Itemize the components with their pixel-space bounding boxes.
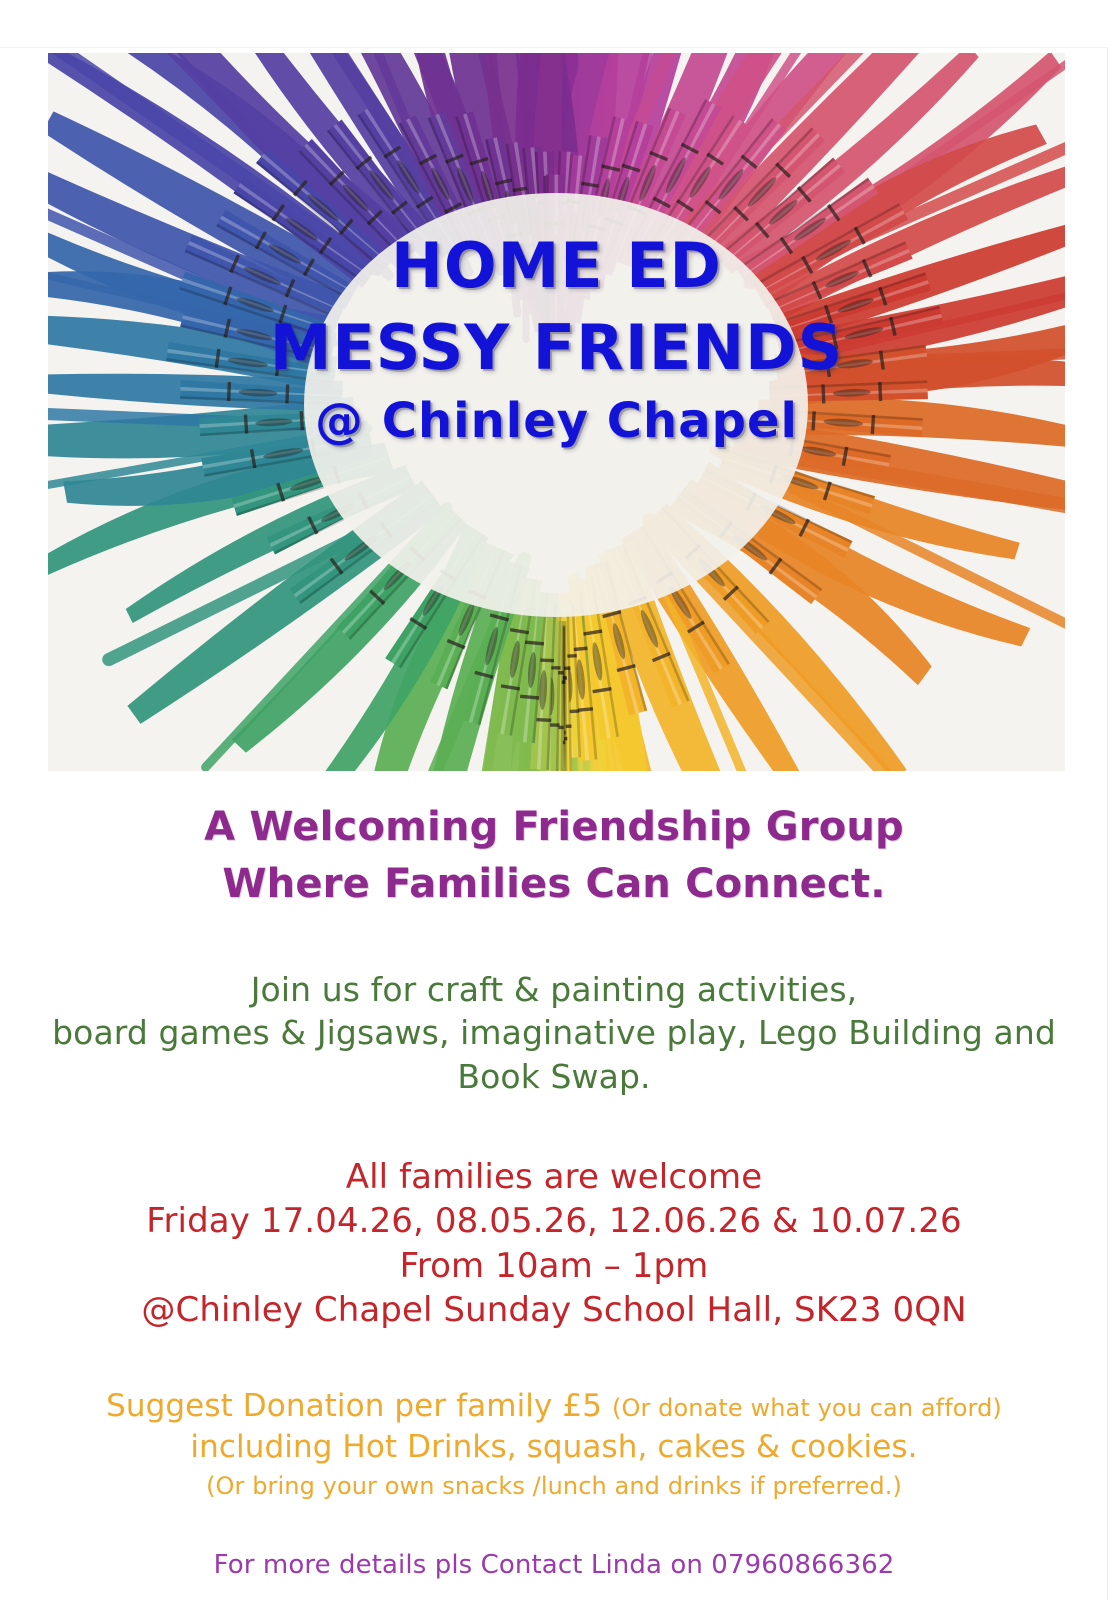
melted-crayon-heart-graphic bbox=[48, 53, 1065, 771]
donation-line-3: (Or bring your own snacks /lunch and dri… bbox=[0, 1468, 1108, 1504]
donation-line-2: including Hot Drinks, squash, cakes & co… bbox=[0, 1427, 1108, 1468]
details-line-welcome: All families are welcome bbox=[0, 1155, 1108, 1199]
activities-line-3: Book Swap. bbox=[0, 1055, 1108, 1099]
donation-parenthetical: (Or donate what you can afford) bbox=[612, 1394, 1002, 1422]
page-top-edge bbox=[0, 47, 1108, 48]
donation-block: Suggest Donation per family £5 (Or donat… bbox=[0, 1332, 1108, 1504]
activities-line-2: board games & Jigsaws, imaginative play,… bbox=[0, 1011, 1108, 1055]
donation-amount-text: Suggest Donation per family £5 bbox=[106, 1388, 602, 1424]
tagline-line-2: Where Families Can Connect. bbox=[0, 856, 1108, 913]
details-line-venue: @Chinley Chapel Sunday School Hall, SK23… bbox=[0, 1288, 1108, 1332]
hero-image: HOME ED MESSY FRIENDS @ Chinley Chapel bbox=[48, 53, 1065, 771]
activities-block: Join us for craft & painting activities,… bbox=[0, 913, 1108, 1100]
event-details-block: All families are welcome Friday 17.04.26… bbox=[0, 1099, 1108, 1332]
tagline-block: A Welcoming Friendship Group Where Famil… bbox=[0, 771, 1108, 913]
details-line-dates: Friday 17.04.26, 08.05.26, 12.06.26 & 10… bbox=[0, 1199, 1108, 1243]
activities-line-1: Join us for craft & painting activities, bbox=[0, 968, 1108, 1012]
donation-line-1: Suggest Donation per family £5 (Or donat… bbox=[0, 1386, 1108, 1427]
contact-line: For more details pls Contact Linda on 07… bbox=[0, 1550, 1108, 1580]
details-line-time: From 10am – 1pm bbox=[0, 1244, 1108, 1288]
tagline-line-1: A Welcoming Friendship Group bbox=[0, 799, 1108, 856]
poster-body: A Welcoming Friendship Group Where Famil… bbox=[0, 771, 1108, 1580]
poster-page: HOME ED MESSY FRIENDS @ Chinley Chapel A… bbox=[0, 0, 1115, 1600]
contact-block: For more details pls Contact Linda on 07… bbox=[0, 1504, 1108, 1580]
